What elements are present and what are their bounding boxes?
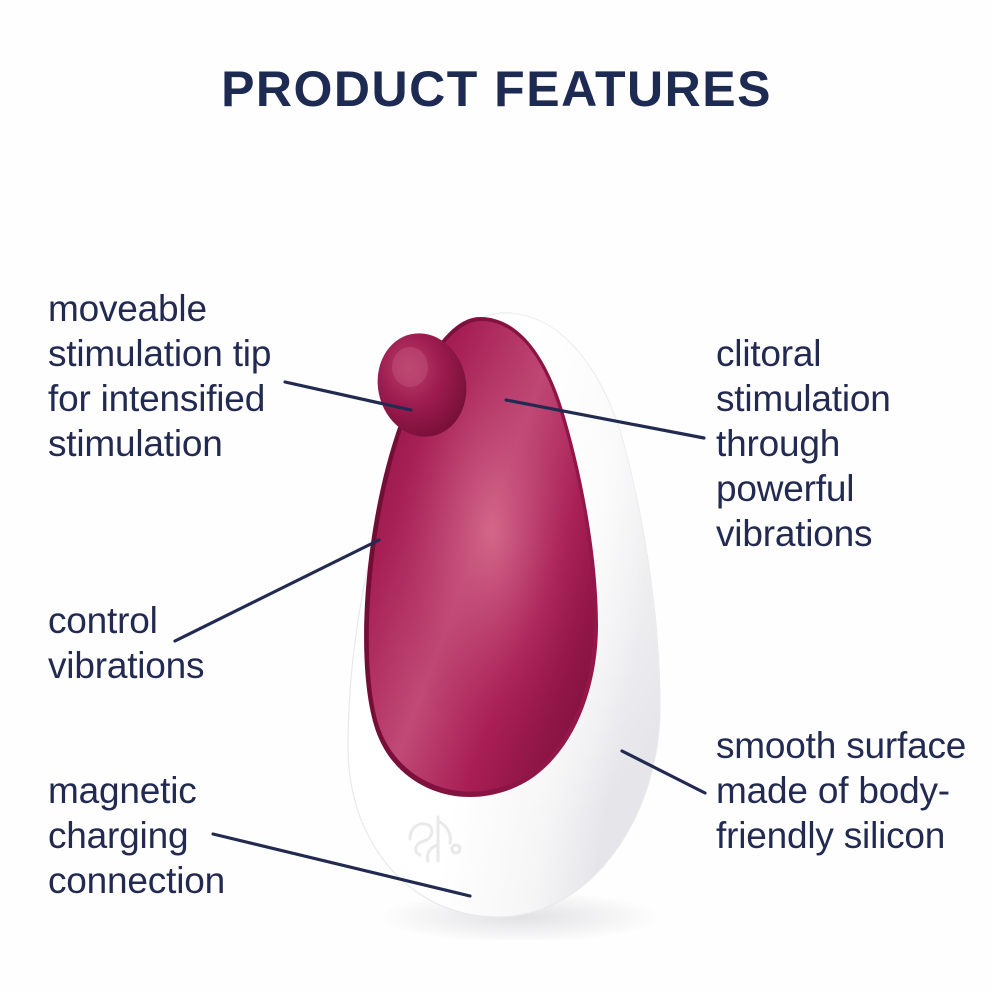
callout-label-clitoral-stimulation: clitoral stimulation through powerful vi… xyxy=(716,331,986,556)
stimulation-tip-highlight xyxy=(392,347,428,387)
callout-label-magnetic-charging-connection: magnetic charging connection xyxy=(48,768,348,903)
product-illustration xyxy=(330,295,670,940)
product-features-page: PRODUCT FEATURES xyxy=(0,0,993,993)
page-title: PRODUCT FEATURES xyxy=(0,60,993,118)
callout-label-control-vibrations: control vibrations xyxy=(48,598,348,688)
callout-label-moveable-stimulation-tip: moveable stimulation tip for intensified… xyxy=(48,286,378,466)
callout-label-smooth-surface-silicon: smooth surface made of body- friendly si… xyxy=(716,723,991,858)
